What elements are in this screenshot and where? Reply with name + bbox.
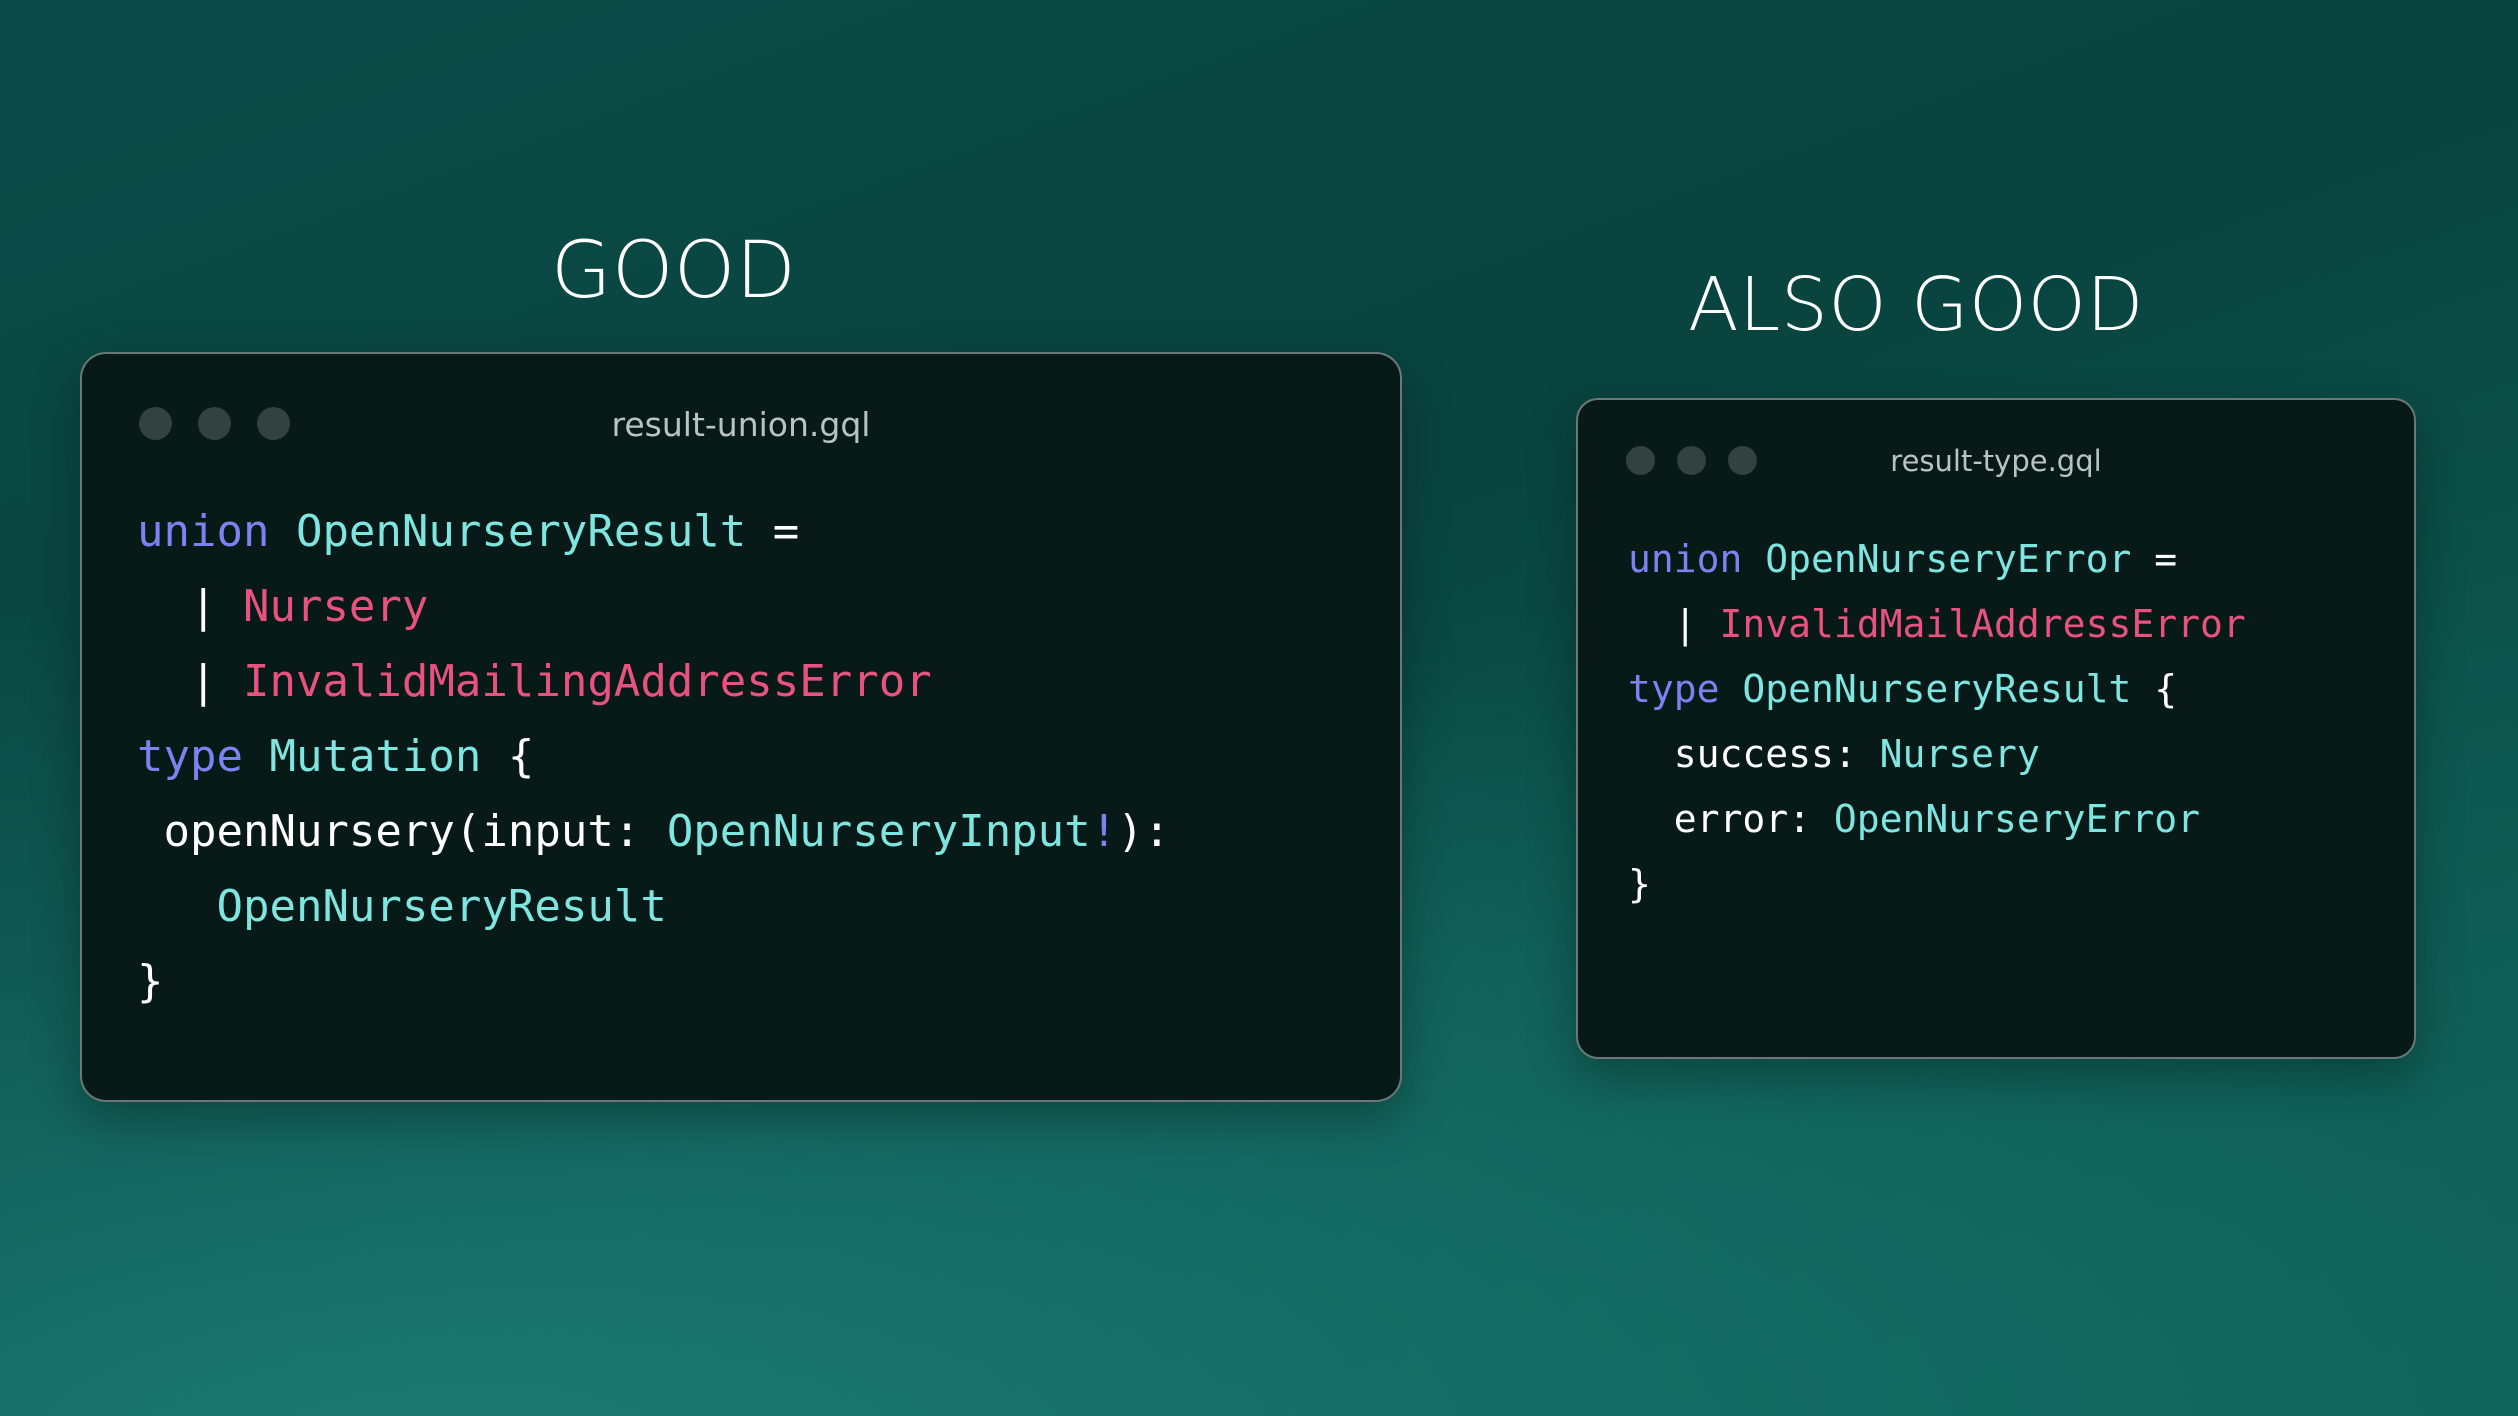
code-token: type [1628, 667, 1720, 711]
code-token: union [137, 506, 269, 557]
code-token: error: [1628, 797, 1834, 841]
code-token: | [137, 656, 243, 707]
code-token: type [137, 731, 243, 782]
code-token: ): [1117, 806, 1170, 857]
code-token: Nursery [243, 581, 428, 632]
code-line: | InvalidMailingAddressError [137, 644, 1170, 719]
code-token: OpenNurseryInput [667, 806, 1091, 857]
code-card-filename: result-type.gql [1578, 444, 2414, 478]
code-token: OpenNurseryResult [216, 881, 666, 932]
code-line: OpenNurseryResult [137, 869, 1170, 944]
code-token: = [746, 506, 825, 557]
code-token: } [1628, 862, 1651, 906]
code-line: type Mutation { [137, 719, 1170, 794]
code-line: } [137, 944, 1170, 1019]
code-line: | InvalidMailAddressError [1628, 592, 2246, 657]
code-card-result-union: result-union.gql union OpenNurseryResult… [80, 352, 1402, 1102]
code-token: OpenNurseryResult [1742, 667, 2131, 711]
code-token: ! [1091, 806, 1118, 857]
code-token [243, 731, 270, 782]
code-card-result-type: result-type.gql union OpenNurseryError =… [1576, 398, 2416, 1059]
code-token: { [2131, 667, 2177, 711]
code-token: Mutation [269, 731, 481, 782]
code-line: union OpenNurseryResult = [137, 494, 1170, 569]
code-line: union OpenNurseryError = [1628, 527, 2246, 592]
code-token: Nursery [1880, 732, 2040, 776]
code-token: InvalidMailAddressError [1720, 602, 2246, 646]
code-card-filename: result-union.gql [82, 405, 1400, 444]
code-token: OpenNurseryResult [296, 506, 746, 557]
heading-also-good: ALSO GOOD [1688, 268, 2144, 342]
code-token: openNursery(input: [137, 806, 667, 857]
code-token [137, 881, 216, 932]
code-line: } [1628, 852, 2246, 917]
code-token: OpenNurseryError [1834, 797, 2200, 841]
code-line: openNursery(input: OpenNurseryInput!): [137, 794, 1170, 869]
code-token: = [2131, 537, 2200, 581]
code-token: OpenNurseryError [1765, 537, 2131, 581]
code-block: union OpenNurseryError = | InvalidMailAd… [1628, 527, 2246, 917]
heading-good: GOOD [551, 232, 796, 310]
code-token: InvalidMailingAddressError [243, 656, 932, 707]
code-token: | [137, 581, 243, 632]
code-token [269, 506, 296, 557]
code-token: union [1628, 537, 1742, 581]
code-block: union OpenNurseryResult = | Nursery | In… [137, 494, 1170, 1019]
code-token: success: [1628, 732, 1880, 776]
code-line: success: Nursery [1628, 722, 2246, 787]
code-token [1720, 667, 1743, 711]
code-token: } [137, 956, 164, 1007]
slide-canvas: GOOD ALSO GOOD result-union.gql union Op… [0, 0, 2518, 1416]
code-token: | [1628, 602, 1720, 646]
code-line: type OpenNurseryResult { [1628, 657, 2246, 722]
code-token [1742, 537, 1765, 581]
code-line: | Nursery [137, 569, 1170, 644]
code-token: { [481, 731, 534, 782]
code-line: error: OpenNurseryError [1628, 787, 2246, 852]
